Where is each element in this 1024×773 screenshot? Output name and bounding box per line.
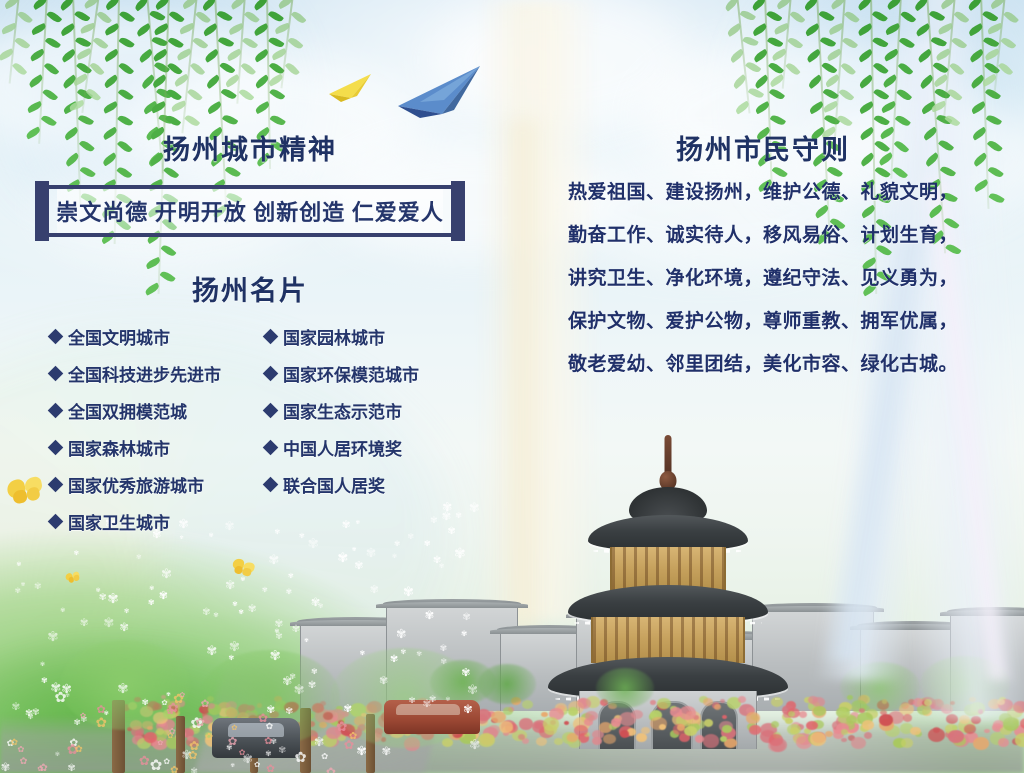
city-card-item-label: 国家优秀旅游城市: [68, 472, 204, 497]
right-column: 扬州市民守则 热爱祖国、建设扬州，维护公德、礼貌文明，勤奋工作、诚实待人，移风易…: [528, 128, 998, 398]
city-card-item: 全国科技进步先进市: [50, 355, 265, 392]
city-spirit-title: 扬州城市精神: [0, 128, 500, 167]
diamond-bullet-icon: [263, 329, 279, 345]
city-card-item-label: 国家园林城市: [283, 324, 385, 349]
city-card-item: 中国人居环境奖: [265, 429, 450, 466]
banner-inner: 崇文尚德 开明开放 创新创造 仁爱爱人: [57, 189, 443, 233]
citizen-code-title: 扬州市民守则: [528, 128, 998, 167]
citizen-code-line: 敬老爱幼、邻里团结，美化市容、绿化古城。: [528, 355, 998, 374]
city-card-list: 全国文明城市国家园林城市全国科技进步先进市国家环保模范城市全国双拥模范城国家生态…: [50, 318, 450, 540]
diamond-bullet-icon: [48, 329, 64, 345]
diamond-bullet-icon: [263, 440, 279, 456]
left-column: 扬州城市精神 崇文尚德 开明开放 创新创造 仁爱爱人 扬州名片 全国文明城市国家…: [0, 128, 500, 540]
city-card-item: 国家环保模范城市: [265, 355, 450, 392]
city-spirit-banner: 崇文尚德 开明开放 创新创造 仁爱爱人: [35, 181, 465, 241]
diamond-bullet-icon: [48, 440, 64, 456]
citizen-code-line: 讲究卫生、净化环境，遵纪守法、见义勇为，: [528, 269, 998, 288]
butterfly-icon: [230, 558, 256, 580]
diamond-bullet-icon: [48, 366, 64, 382]
diamond-bullet-icon: [263, 477, 279, 493]
city-card-item-label: 国家森林城市: [68, 435, 170, 460]
paper-plane-icon: [327, 72, 375, 104]
banner-arm-bottom: [46, 233, 456, 237]
citizen-code-line: 热爱祖国、建设扬州，维护公德、礼貌文明，: [528, 183, 998, 202]
city-card-item: 国家生态示范市: [265, 392, 450, 429]
city-card-item: 国家卫生城市: [50, 503, 265, 540]
citizen-code-line: 勤奋工作、诚实待人，移风易俗、计划生育，: [528, 226, 998, 245]
city-card-item: 国家优秀旅游城市: [50, 466, 265, 503]
city-card-item-label: 中国人居环境奖: [283, 435, 402, 460]
city-card-item: [265, 503, 450, 540]
city-spirit-slogan: 崇文尚德 开明开放 创新创造 仁爱爱人: [56, 195, 444, 227]
city-card-item-label: 全国文明城市: [68, 324, 170, 349]
city-card-item-label: 国家环保模范城市: [283, 361, 419, 386]
poster-canvas: ✾✾✾✾✾✾✾✾✾✾✾✾✾✾✾✾✾✾✾✾✾✾✾✾✾✾✾✾✾✾✾✾✾✾✾✾✾✾✾✾…: [0, 0, 1024, 773]
butterfly-wing: [241, 567, 251, 577]
citizen-code-body: 热爱祖国、建设扬州，维护公德、礼貌文明，勤奋工作、诚实待人，移风易俗、计划生育，…: [528, 183, 998, 374]
city-card-title: 扬州名片: [0, 269, 500, 308]
banner-bracket-left: [35, 181, 49, 241]
butterfly-icon: [65, 570, 82, 585]
city-card-item: 全国双拥模范城: [50, 392, 265, 429]
city-card-item: 全国文明城市: [50, 318, 265, 355]
city-card-item-label: 全国双拥模范城: [68, 398, 187, 423]
city-card-item-label: 国家卫生城市: [68, 509, 170, 534]
city-card-item: 国家园林城市: [265, 318, 450, 355]
city-card-item-label: 国家生态示范市: [283, 398, 402, 423]
city-card-item: 联合国人居奖: [265, 466, 450, 503]
diamond-bullet-icon: [48, 403, 64, 419]
paper-plane-icon: [394, 62, 488, 120]
diamond-bullet-icon: [263, 366, 279, 382]
city-card-item-label: 联合国人居奖: [283, 472, 385, 497]
diamond-bullet-icon: [263, 403, 279, 419]
city-card-item-label: 全国科技进步先进市: [68, 361, 221, 386]
banner-bracket-right: [451, 181, 465, 241]
citizen-code-line: 保护文物、爱护公物，尊师重教、拥军优属，: [528, 312, 998, 331]
diamond-bullet-icon: [48, 477, 64, 493]
diamond-bullet-icon: [48, 514, 64, 530]
city-card-item: 国家森林城市: [50, 429, 265, 466]
